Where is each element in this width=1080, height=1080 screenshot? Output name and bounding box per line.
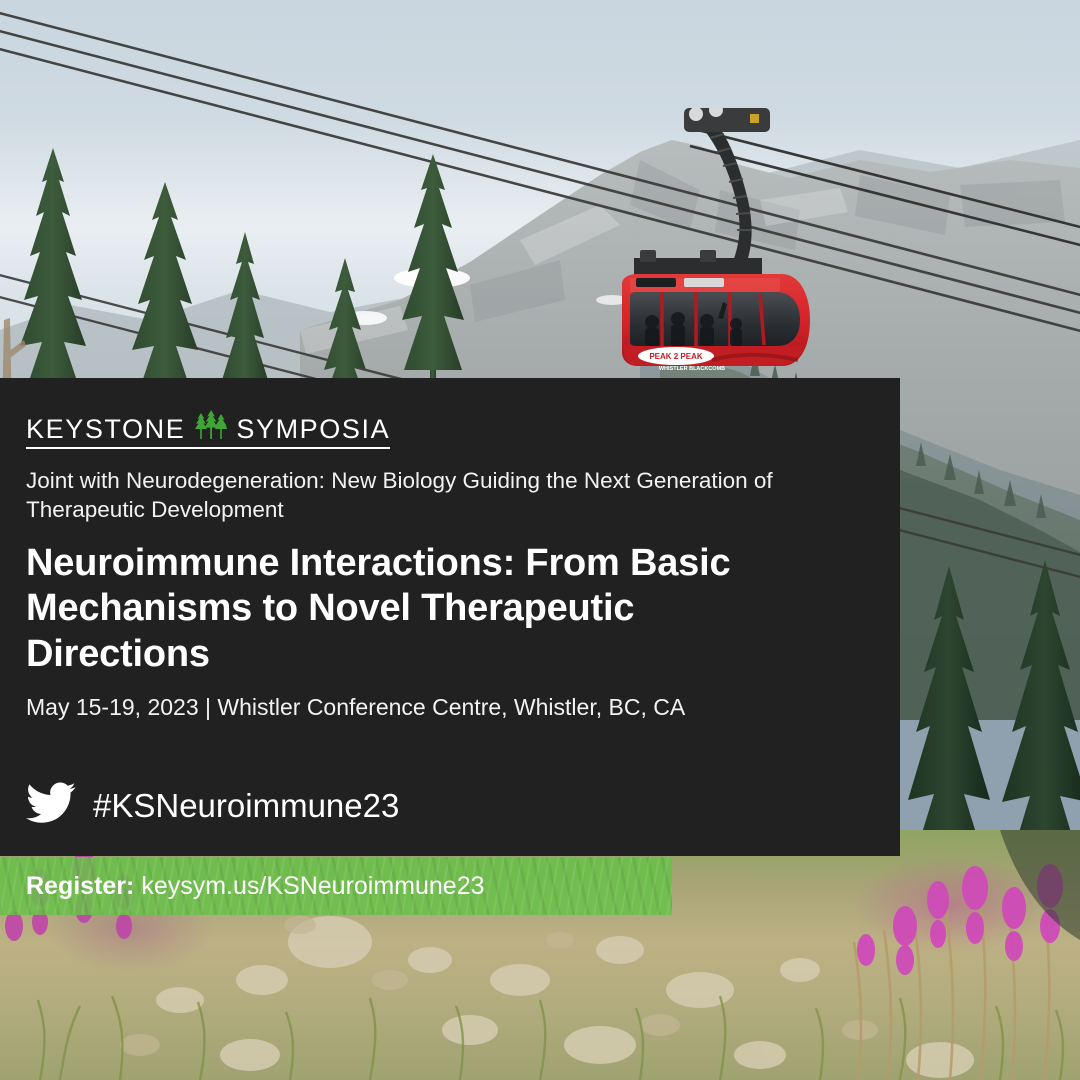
gondola-cabin: PEAK 2 PEAK WHISTLER BLACKCOMB — [600, 108, 830, 376]
event-info-panel: KEYSTONE SYMPOSIA Joint with Neurodegene… — [0, 378, 900, 856]
register-text: Register: keysym.us/KSNeuroimmune23 — [26, 872, 485, 901]
hashtag-label: #KSNeuroimmune23 — [93, 787, 399, 825]
left-conifer-trees — [0, 120, 510, 420]
register-bar[interactable]: Register: keysym.us/KSNeuroimmune23 — [0, 857, 672, 915]
svg-text:PEAK 2 PEAK: PEAK 2 PEAK — [649, 352, 703, 361]
logo-word-symposia: SYMPOSIA — [236, 416, 390, 443]
event-date-venue: May 15-19, 2023 | Whistler Conference Ce… — [26, 694, 874, 721]
social-hashtag-row[interactable]: #KSNeuroimmune23 — [26, 782, 399, 829]
register-url[interactable]: keysym.us/KSNeuroimmune23 — [141, 872, 484, 900]
keystone-symposia-logo[interactable]: KEYSTONE SYMPOSIA — [26, 408, 390, 449]
register-label: Register: — [26, 872, 134, 900]
three-pine-trees-icon — [194, 410, 228, 445]
twitter-bird-icon[interactable] — [26, 782, 76, 829]
logo-word-keystone: KEYSTONE — [26, 416, 185, 443]
joint-meeting-subtitle: Joint with Neurodegeneration: New Biolog… — [26, 466, 856, 525]
svg-text:WHISTLER BLACKCOMB: WHISTLER BLACKCOMB — [659, 366, 725, 372]
event-title: Neuroimmune Interactions: From Basic Mec… — [26, 541, 786, 679]
